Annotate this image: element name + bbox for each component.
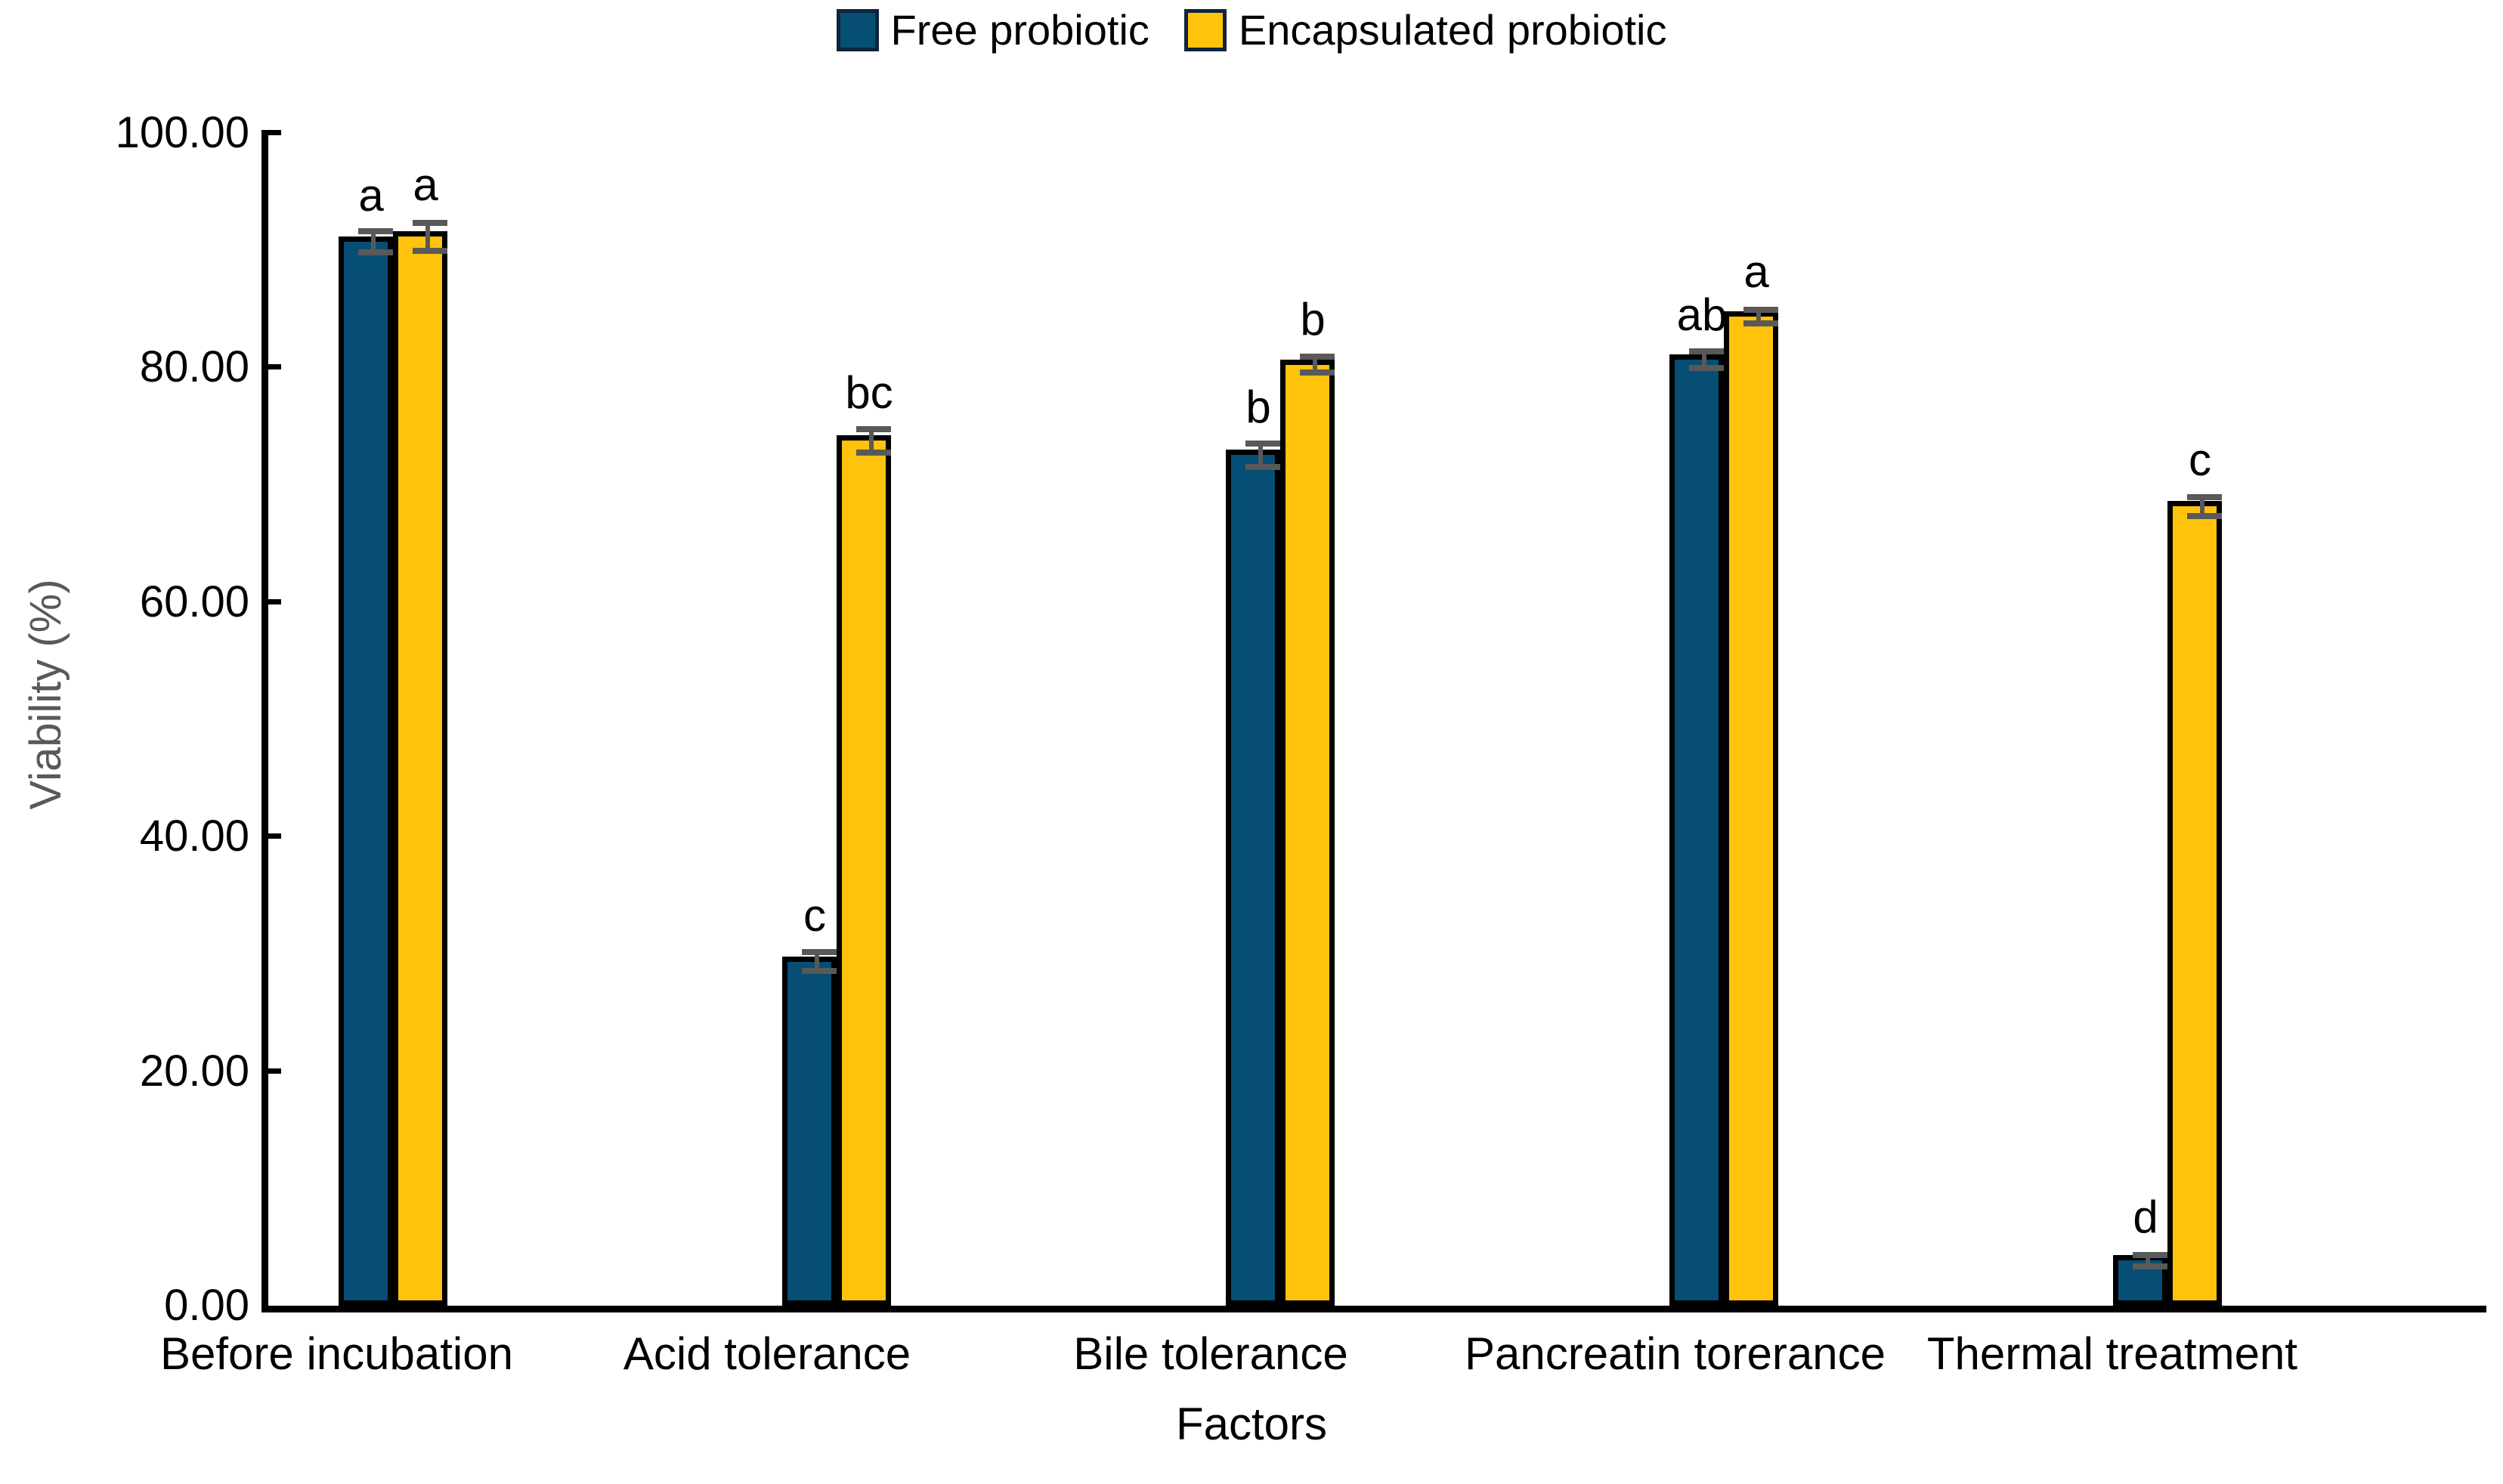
x-category-label-thermal-treatment: Thermal treatment [1923, 1331, 2301, 1377]
error-cap-top [2133, 1252, 2167, 1258]
significance-letter-free-probiotic: b [1245, 385, 1270, 430]
significance-letter-encapsulated-probiotic: bc [845, 370, 893, 416]
error-cap-bottom [1689, 365, 1724, 371]
bar-group-thermal-treatment: d c [2113, 133, 2222, 1306]
bar-group-acid-tolerance: c bc [782, 133, 891, 1306]
y-axis-tick-60 [261, 599, 281, 604]
bar-free-probiotic[interactable]: ab [1669, 354, 1724, 1306]
legend-item-encapsulated-probiotic: Encapsulated probiotic [1184, 9, 1667, 51]
error-cap-bottom [413, 248, 447, 254]
bar-encapsulated-probiotic[interactable]: a [393, 231, 447, 1306]
error-cap-top [1743, 307, 1778, 313]
bar-free-probiotic[interactable]: d [2113, 1255, 2167, 1306]
error-cap-top [1300, 354, 1335, 360]
y-axis-tick-20 [261, 1068, 281, 1074]
error-bar-free-probiotic [1258, 444, 1263, 467]
error-cap-bottom [1245, 464, 1280, 470]
error-bar-encapsulated-probiotic [869, 429, 874, 453]
y-axis-tick-40 [261, 833, 281, 839]
y-axis-title: Viability (%) [24, 570, 68, 819]
error-bar-free-probiotic [1702, 351, 1706, 368]
error-cap-top [2187, 494, 2222, 500]
bar-free-probiotic[interactable]: a [339, 237, 393, 1306]
bar-group-pancreatin-torerance: ab a [1669, 133, 1778, 1306]
bar-encapsulated-probiotic[interactable]: c [2167, 501, 2222, 1306]
legend-label-encapsulated-probiotic: Encapsulated probiotic [1239, 9, 1667, 51]
y-tick-label-0: 0.00 [30, 1284, 249, 1328]
error-cap-bottom [2133, 1263, 2167, 1269]
error-cap-bottom [2187, 513, 2222, 519]
bar-free-probiotic[interactable]: b [1226, 450, 1280, 1306]
error-cap-top [802, 949, 837, 955]
bar-encapsulated-probiotic[interactable]: bc [837, 435, 891, 1306]
bar-group-bile-tolerance: b b [1226, 133, 1335, 1306]
y-axis-tick-100 [261, 130, 281, 135]
bar-chart: Free probiotic Encapsulated probiotic 10… [0, 0, 2503, 1484]
y-tick-label-100: 100.00 [30, 111, 249, 155]
error-cap-top [856, 426, 891, 432]
error-cap-bottom [1300, 369, 1335, 376]
error-cap-top [1245, 441, 1280, 447]
significance-letter-free-probiotic: a [358, 173, 383, 218]
error-cap-bottom [358, 249, 393, 255]
y-tick-label-80: 80.00 [30, 345, 249, 389]
error-bar-free-probiotic [815, 952, 819, 971]
legend-swatch-encapsulated-probiotic [1184, 9, 1227, 51]
significance-letter-free-probiotic: d [2133, 1195, 2158, 1240]
bar-free-probiotic[interactable]: c [782, 957, 837, 1306]
y-tick-label-40: 40.00 [30, 815, 249, 858]
x-category-label-before-incubation: Before incubation [160, 1331, 487, 1377]
legend-swatch-free-probiotic [837, 9, 879, 51]
x-category-label-pancreatin-torerance: Pancreatin torerance [1465, 1331, 1873, 1377]
bar-encapsulated-probiotic[interactable]: a [1724, 311, 1778, 1306]
error-cap-bottom [802, 968, 837, 974]
significance-letter-encapsulated-probiotic: a [1743, 249, 1768, 295]
significance-letter-free-probiotic: c [803, 893, 826, 938]
error-bar-free-probiotic [371, 231, 376, 252]
bar-encapsulated-probiotic[interactable]: b [1280, 360, 1335, 1306]
error-cap-top [413, 220, 447, 226]
y-axis-tick-80 [261, 364, 281, 369]
error-cap-bottom [1743, 320, 1778, 326]
error-bar-encapsulated-probiotic [425, 223, 430, 251]
error-bar-free-probiotic [2146, 1255, 2150, 1267]
error-bar-encapsulated-probiotic [1756, 310, 1761, 324]
legend-label-free-probiotic: Free probiotic [891, 9, 1149, 51]
chart-legend: Free probiotic Encapsulated probiotic [0, 9, 2503, 51]
x-category-label-bile-tolerance: Bile tolerance [1047, 1331, 1374, 1377]
legend-item-free-probiotic: Free probiotic [837, 9, 1149, 51]
significance-letter-free-probiotic: ab [1677, 292, 1728, 338]
error-cap-top [1689, 348, 1724, 354]
error-cap-bottom [856, 450, 891, 456]
x-category-label-acid-tolerance: Acid tolerance [604, 1331, 930, 1377]
error-bar-encapsulated-probiotic [2200, 497, 2204, 516]
error-bar-encapsulated-probiotic [1313, 357, 1317, 373]
y-axis-line [261, 130, 268, 1309]
y-tick-label-20: 20.00 [30, 1050, 249, 1093]
significance-letter-encapsulated-probiotic: c [2189, 437, 2211, 483]
significance-letter-encapsulated-probiotic: b [1300, 297, 1325, 342]
x-axis-line [261, 1306, 2486, 1312]
error-cap-top [358, 228, 393, 234]
bar-group-before-incubation: a a [339, 133, 447, 1306]
x-axis-title: Factors [0, 1402, 2503, 1447]
plot-area: a a c [268, 133, 2486, 1306]
significance-letter-encapsulated-probiotic: a [413, 162, 438, 208]
